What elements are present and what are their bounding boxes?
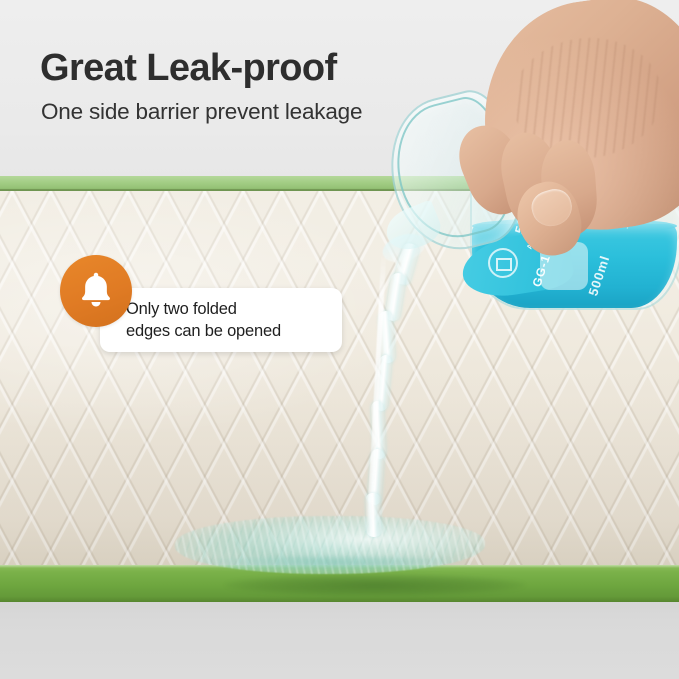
product-feature-image: Great Leak-proof One side barrier preven… (0, 0, 679, 679)
floor-surface (0, 596, 679, 679)
mat-border-wet-spot (225, 574, 525, 596)
callout-text: Only two folded edges can be opened (126, 298, 336, 342)
page-title: Great Leak-proof (40, 46, 337, 90)
beaker-assembly: 300 200 100 500 APPROX GG-17 500ml (392, 96, 679, 328)
bell-icon (78, 270, 114, 313)
beaker-logo-seal (488, 248, 518, 278)
feature-callout: Only two folded edges can be opened (60, 255, 342, 353)
callout-card: Only two folded edges can be opened (100, 288, 342, 352)
puddle-edge-sheen (178, 556, 478, 572)
callout-icon-badge (60, 255, 132, 327)
callout-text-line-1: Only two folded (126, 298, 336, 320)
callout-text-line-2: edges can be opened (126, 320, 336, 342)
page-subtitle: One side barrier prevent leakage (41, 97, 362, 127)
